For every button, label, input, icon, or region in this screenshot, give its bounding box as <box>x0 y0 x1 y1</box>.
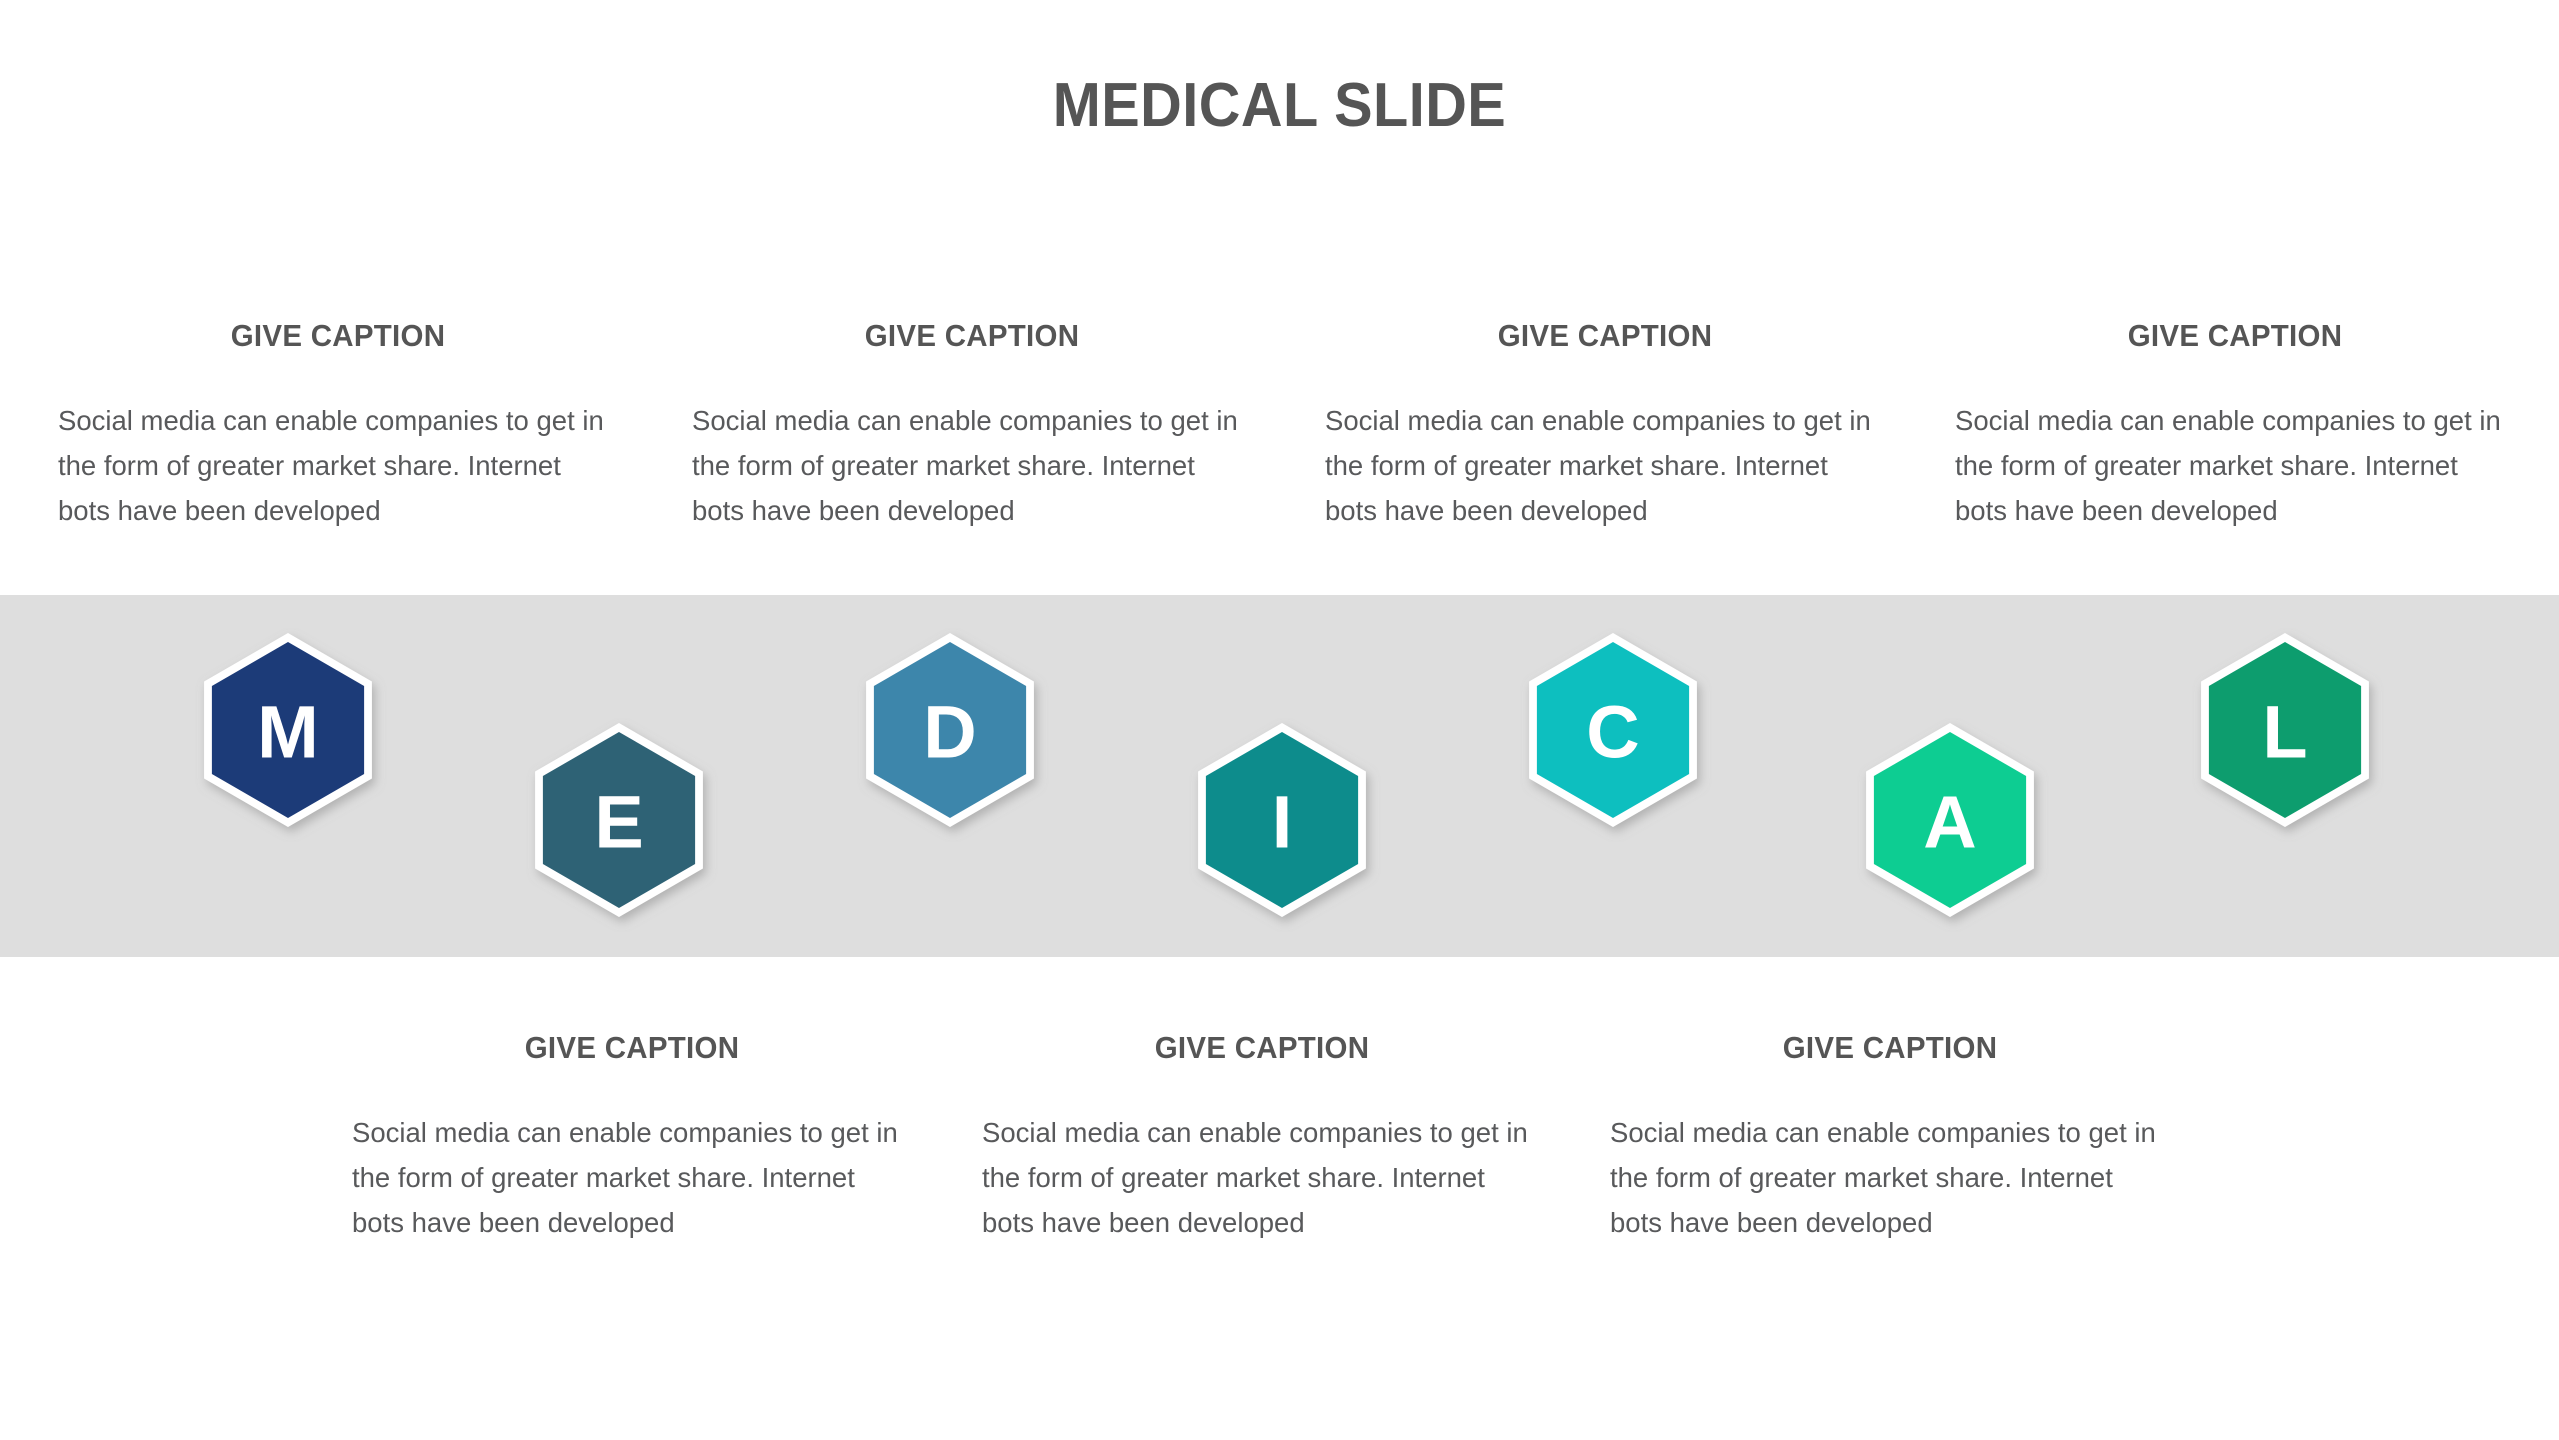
caption-block-bottom-1: GIVE CAPTION Social media can enable com… <box>352 1030 912 1245</box>
hexagon-letter: E <box>594 781 643 864</box>
hexagon-letter: L <box>2262 691 2307 774</box>
caption-body: Social media can enable companies to get… <box>692 398 1252 533</box>
caption-heading: GIVE CAPTION <box>1624 1030 2156 1066</box>
caption-body: Social media can enable companies to get… <box>1610 1110 2170 1245</box>
caption-body: Social media can enable companies to get… <box>352 1110 912 1245</box>
caption-body: Social media can enable companies to get… <box>982 1110 1542 1245</box>
caption-heading: GIVE CAPTION <box>706 318 1238 354</box>
caption-block-top-3: GIVE CAPTION Social media can enable com… <box>1325 318 1885 533</box>
caption-heading: GIVE CAPTION <box>366 1030 898 1066</box>
hexagon-letter: M <box>257 691 319 774</box>
caption-heading: GIVE CAPTION <box>72 318 604 354</box>
page-title: MEDICAL SLIDE <box>90 70 2470 141</box>
slide-canvas: MEDICAL SLIDE GIVE CAPTION Social media … <box>0 0 2559 1440</box>
hexagon-letter: I <box>1272 781 1293 864</box>
caption-body: Social media can enable companies to get… <box>1955 398 2515 533</box>
caption-heading: GIVE CAPTION <box>996 1030 1528 1066</box>
caption-body: Social media can enable companies to get… <box>1325 398 1885 533</box>
caption-heading: GIVE CAPTION <box>1969 318 2501 354</box>
hexagon-letter: A <box>1923 781 1976 864</box>
hexagon-letter: C <box>1586 691 1639 774</box>
caption-block-bottom-3: GIVE CAPTION Social media can enable com… <box>1610 1030 2170 1245</box>
hexagon-letter: D <box>923 691 976 774</box>
caption-body: Social media can enable companies to get… <box>58 398 618 533</box>
caption-block-top-1: GIVE CAPTION Social media can enable com… <box>58 318 618 533</box>
caption-block-top-2: GIVE CAPTION Social media can enable com… <box>692 318 1252 533</box>
caption-heading: GIVE CAPTION <box>1339 318 1871 354</box>
caption-block-bottom-2: GIVE CAPTION Social media can enable com… <box>982 1030 1542 1245</box>
caption-block-top-4: GIVE CAPTION Social media can enable com… <box>1955 318 2515 533</box>
